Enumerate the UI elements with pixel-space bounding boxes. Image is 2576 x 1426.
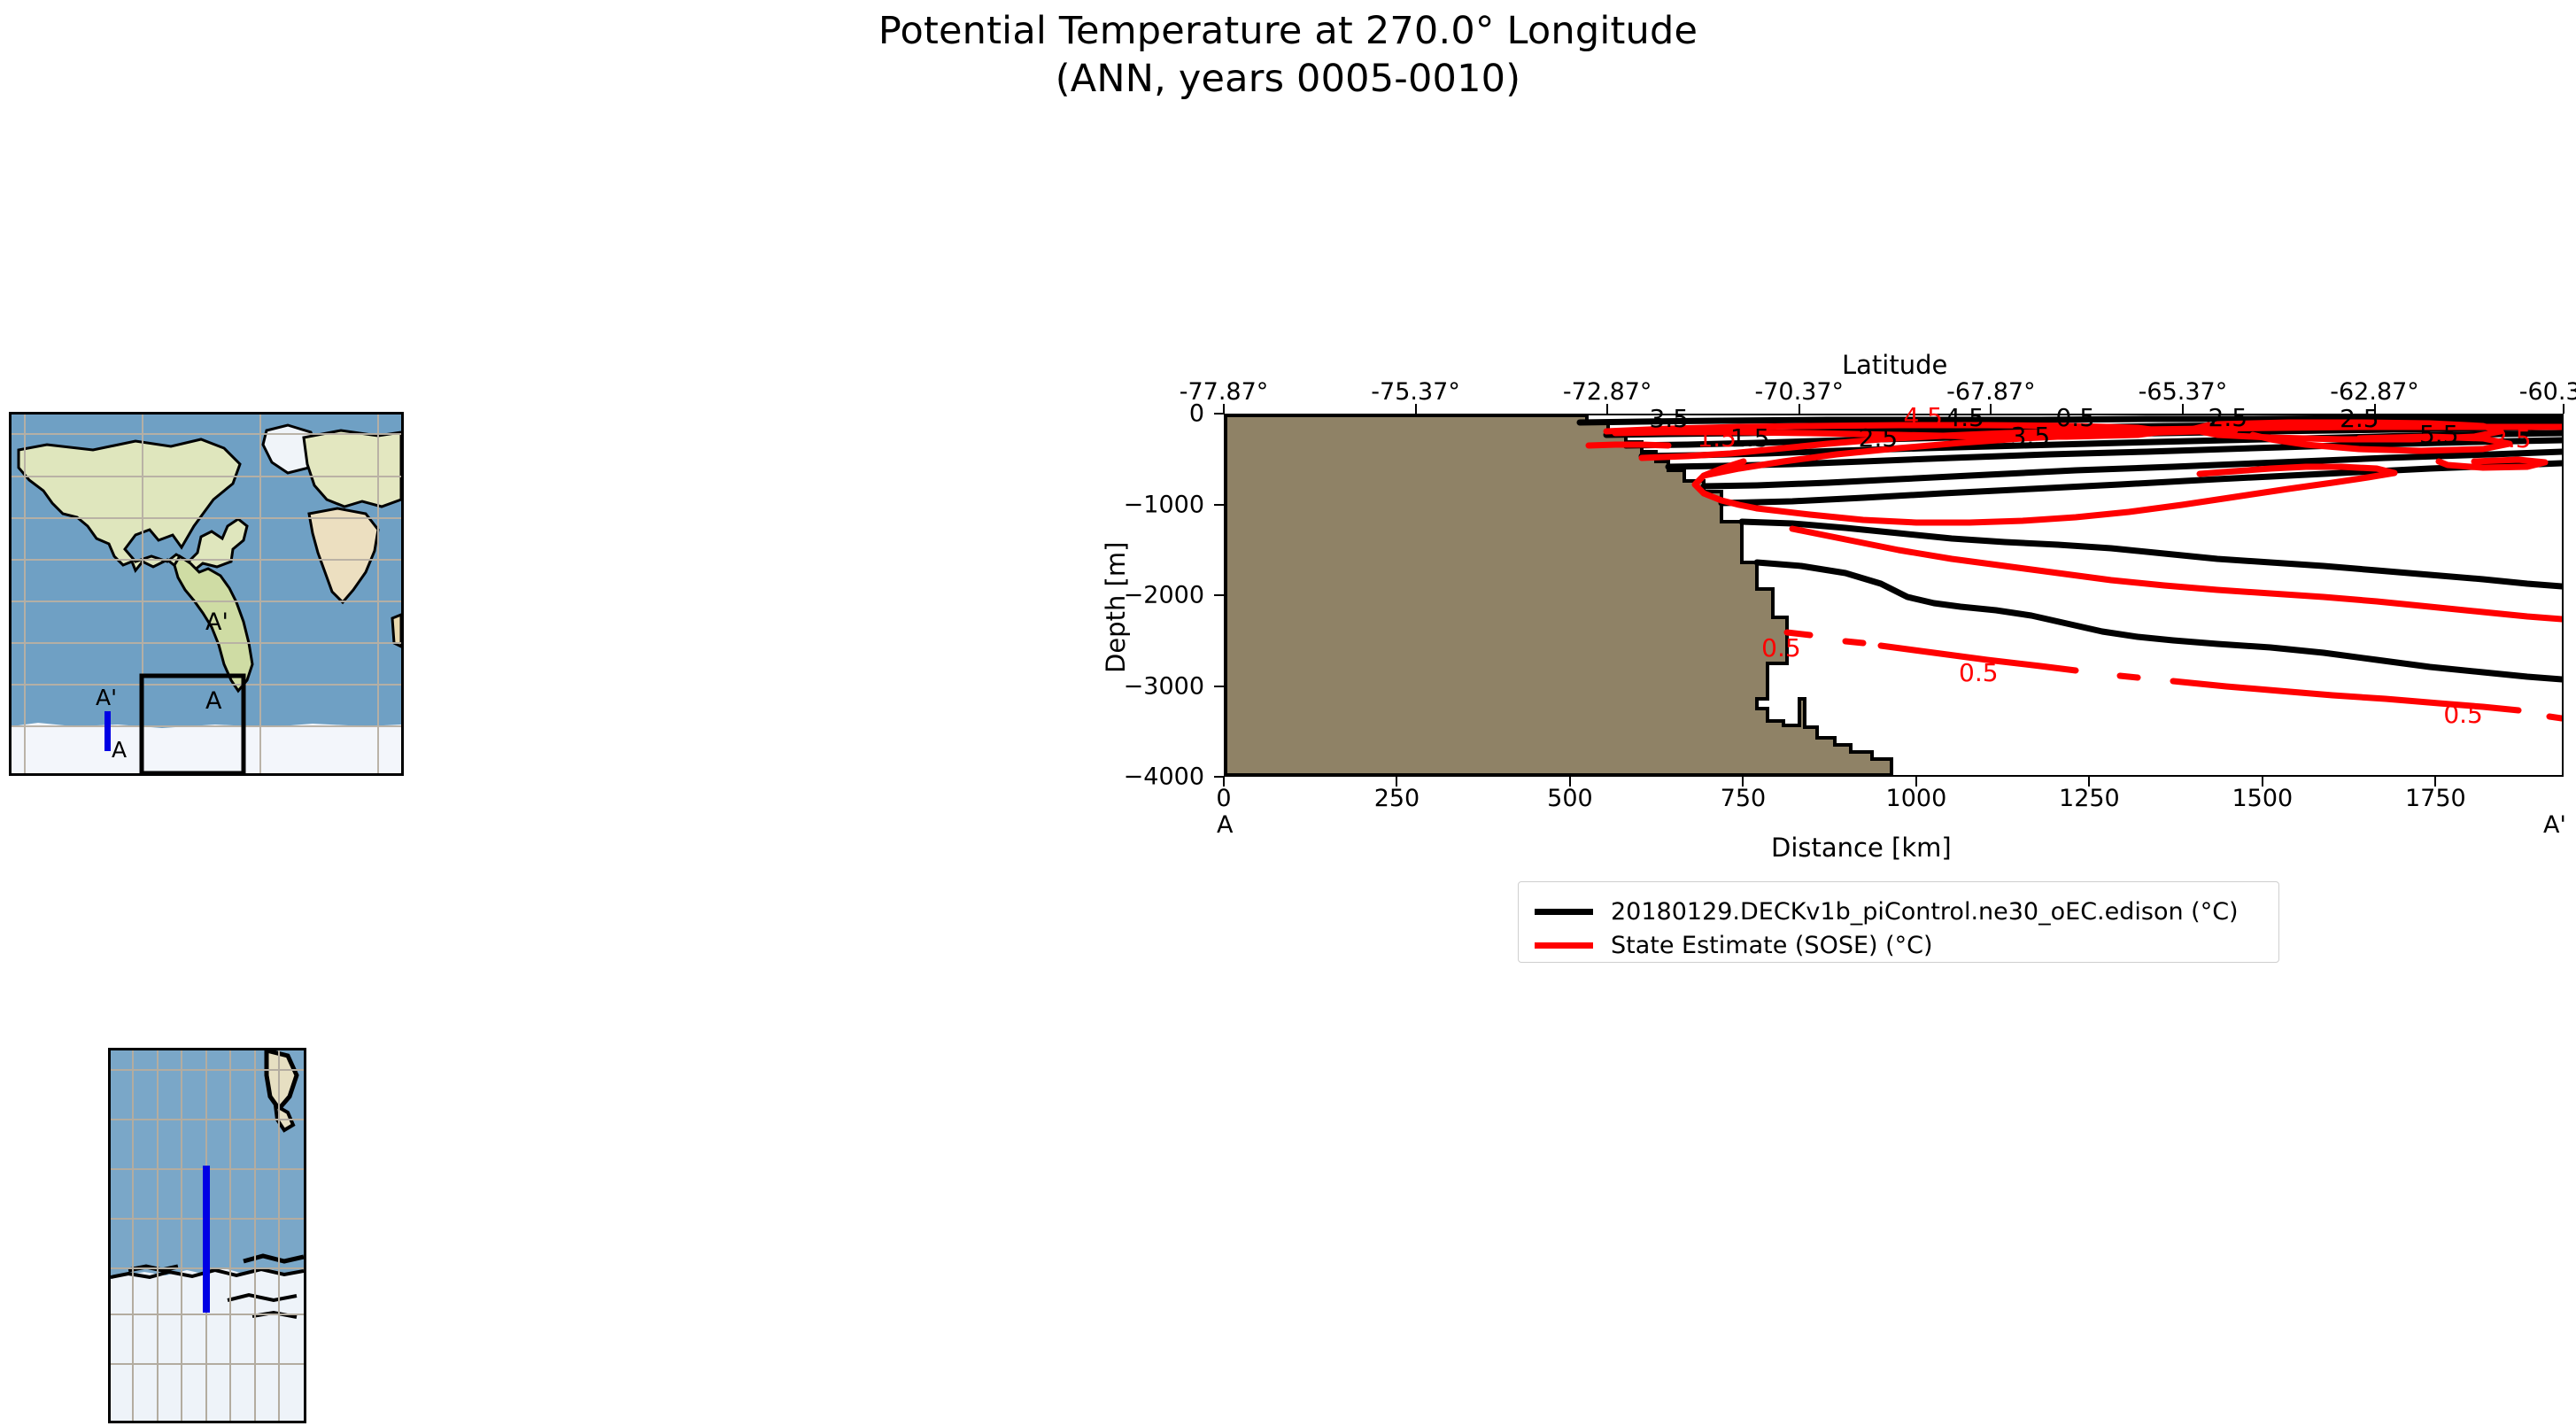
x-axis-title: Distance [km] xyxy=(1771,833,1952,863)
x-tick-label: 250 xyxy=(1374,785,1420,812)
x-tick-mark xyxy=(2434,777,2436,787)
contour-graphic xyxy=(1226,415,2562,775)
x-tick-label: 750 xyxy=(1721,785,1767,812)
legend-row[interactable]: State Estimate (SOSE) (°C) xyxy=(1535,928,2259,962)
x-tick-mark xyxy=(1569,777,1571,787)
y-tick-label: −3000 xyxy=(1124,672,1204,700)
x-tick-mark xyxy=(1915,777,1917,787)
top-tick-mark xyxy=(1990,404,1992,414)
contour-label: 3.5 xyxy=(2011,424,2051,449)
contour-label: 2.5 xyxy=(2209,406,2248,430)
legend-row[interactable]: 20180129.DECKv1b_piControl.ne30_oEC.edis… xyxy=(1535,895,2259,928)
x-tick-label: 1750 xyxy=(2405,785,2466,812)
top-tick-label: -72.87° xyxy=(1563,378,1652,406)
plot-axes-area[interactable] xyxy=(1224,414,2564,777)
contour-label: 2.5 xyxy=(1859,426,1899,451)
legend-label-model: 20180129.DECKv1b_piControl.ne30_oEC.edis… xyxy=(1611,898,2239,926)
contour-label: 4.5 xyxy=(1903,405,1943,430)
y-tick-mark xyxy=(1214,413,1224,415)
x-tick-label: 1000 xyxy=(1886,785,1947,812)
top-tick-label: -75.37° xyxy=(1371,378,1460,406)
contour-label: 0.5 xyxy=(2055,406,2095,430)
plot-legend[interactable]: 20180129.DECKv1b_piControl.ne30_oEC.edis… xyxy=(1518,881,2279,963)
x-tick-mark xyxy=(2088,777,2090,787)
top-tick-label: -70.37° xyxy=(1754,378,1844,406)
top-tick-mark xyxy=(1799,404,1800,414)
contour-label: 2.5 xyxy=(2492,427,2532,452)
top-tick-label: -67.87° xyxy=(1946,378,2036,406)
x-tick-label: 1250 xyxy=(2059,785,2120,812)
legend-label-sose: State Estimate (SOSE) (°C) xyxy=(1611,932,1933,959)
x-tick-label: 1500 xyxy=(2232,785,2294,812)
y-tick-mark xyxy=(1214,504,1224,506)
y-tick-label: −1000 xyxy=(1124,491,1204,518)
x-tick-mark xyxy=(1396,777,1397,787)
x-tick-label: 0 xyxy=(1216,785,1231,812)
contour-label: 1.5 xyxy=(1730,426,1770,451)
x-tick-mark xyxy=(2262,777,2263,787)
contour-label: 0.5 xyxy=(1761,636,1801,661)
top-tick-mark xyxy=(1415,404,1417,414)
top-tick-label: -65.37° xyxy=(2139,378,2228,406)
legend-swatch-model xyxy=(1535,909,1593,915)
top-tick-mark xyxy=(2182,404,2184,414)
y-axis-title: Depth [m] xyxy=(1101,542,1131,673)
y-tick-label: −2000 xyxy=(1124,582,1204,609)
contour-label: 3.5 xyxy=(1650,407,1690,431)
y-tick-label: −4000 xyxy=(1124,763,1204,791)
top-tick-mark xyxy=(2563,404,2564,414)
x-endpoint-label-a-prime: A' xyxy=(2543,811,2566,839)
x-endpoint-label-a: A xyxy=(1217,811,1233,839)
contour-label: 4.5 xyxy=(1945,406,1984,430)
contour-label: 0.5 xyxy=(1959,661,1999,686)
top-tick-label: -62.87° xyxy=(2330,378,2419,406)
legend-swatch-sose xyxy=(1535,942,1593,949)
top-axis-title: Latitude xyxy=(1842,350,1947,380)
contour-label: 5.5 xyxy=(2419,422,2459,447)
y-tick-mark xyxy=(1214,594,1224,596)
contour-label: 2.5 xyxy=(2340,407,2379,431)
x-tick-mark xyxy=(1223,777,1225,787)
y-tick-mark xyxy=(1214,686,1224,687)
x-tick-label: 500 xyxy=(1547,785,1593,812)
x-tick-mark xyxy=(1742,777,1744,787)
y-tick-label: 0 xyxy=(1189,400,1204,428)
contour-label: 0.5 xyxy=(2443,702,2483,727)
top-tick-label: -60.37° xyxy=(2519,378,2576,406)
cross-section-plot: Latitude -77.87°-75.37°-72.87°-70.37°-67… xyxy=(0,0,2576,1426)
top-tick-mark xyxy=(1606,404,1608,414)
